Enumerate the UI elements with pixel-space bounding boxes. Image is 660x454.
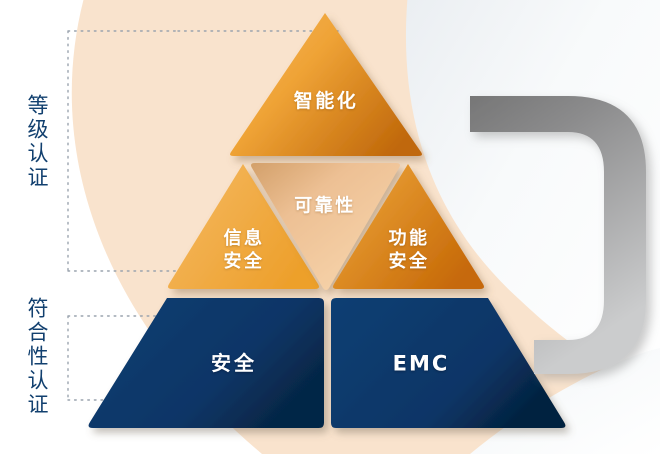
block-label-xinxianquan: 信息 安全	[224, 227, 265, 273]
block-label-anquan: 安全	[211, 351, 257, 377]
curved-loop-arrow[interactable]	[416, 96, 646, 374]
feedback-arrow-group	[0, 0, 660, 454]
block-label-kekaoxing: 可靠性	[294, 194, 356, 217]
diagram-canvas: 等级认证 符合性认证	[0, 0, 660, 454]
block-label-emc: EMC	[393, 351, 450, 378]
block-label-gongnenganquan: 功能 安全	[389, 227, 430, 273]
block-label-zhinenghua: 智能化	[294, 89, 359, 113]
